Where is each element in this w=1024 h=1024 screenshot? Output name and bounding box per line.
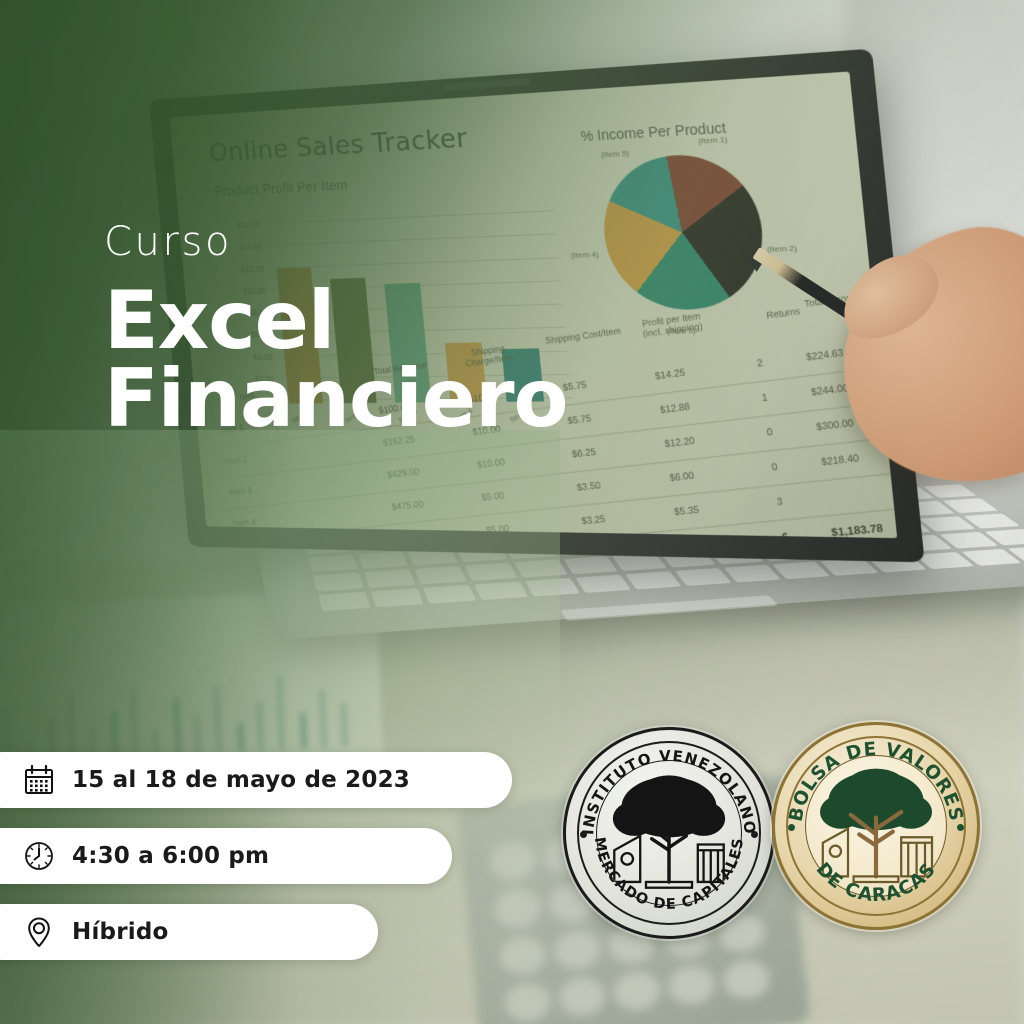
title-line-1: Excel [104, 282, 567, 360]
headline-block: Curso Excel Financiero [104, 222, 567, 439]
seal-dot-left [788, 824, 795, 831]
seal-inner-circle [805, 755, 947, 897]
seal-dot-right [751, 831, 758, 838]
tree-emblem-icon [806, 756, 946, 896]
location-pin-icon [22, 915, 56, 949]
info-pill-date-label: 15 al 18 de mayo de 2023 [72, 767, 410, 793]
info-pill-mode-label: Híbrido [72, 919, 169, 945]
title-line-2: Financiero [104, 360, 567, 438]
info-pill-time-label: 4:30 a 6:00 pm [72, 843, 269, 869]
tree-emblem-icon [597, 761, 741, 905]
kicker-text: Curso [104, 222, 567, 262]
poster-canvas: Online Sales Tracker Product Profit Per … [0, 0, 1024, 1024]
seal-dot-left [580, 831, 587, 838]
logo-instituto-venezolano-mercado-de-capitales: INSTITUTO VENEZOLANO MERCADO DE CAPITALE… [563, 727, 775, 939]
page-title: Excel Financiero [104, 282, 567, 439]
seal-inner-circle [596, 760, 742, 906]
info-pill-time[interactable]: 4:30 a 6:00 pm [0, 828, 452, 884]
seal-dot-right [957, 824, 964, 831]
calendar-icon [22, 763, 56, 797]
info-pill-date[interactable]: 15 al 18 de mayo de 2023 [0, 752, 512, 808]
info-pill-mode[interactable]: Híbrido [0, 904, 378, 960]
clock-icon [22, 839, 56, 873]
logo-bolsa-de-valores-de-caracas: BOLSA DE VALORES DE CARACAS [772, 722, 980, 930]
